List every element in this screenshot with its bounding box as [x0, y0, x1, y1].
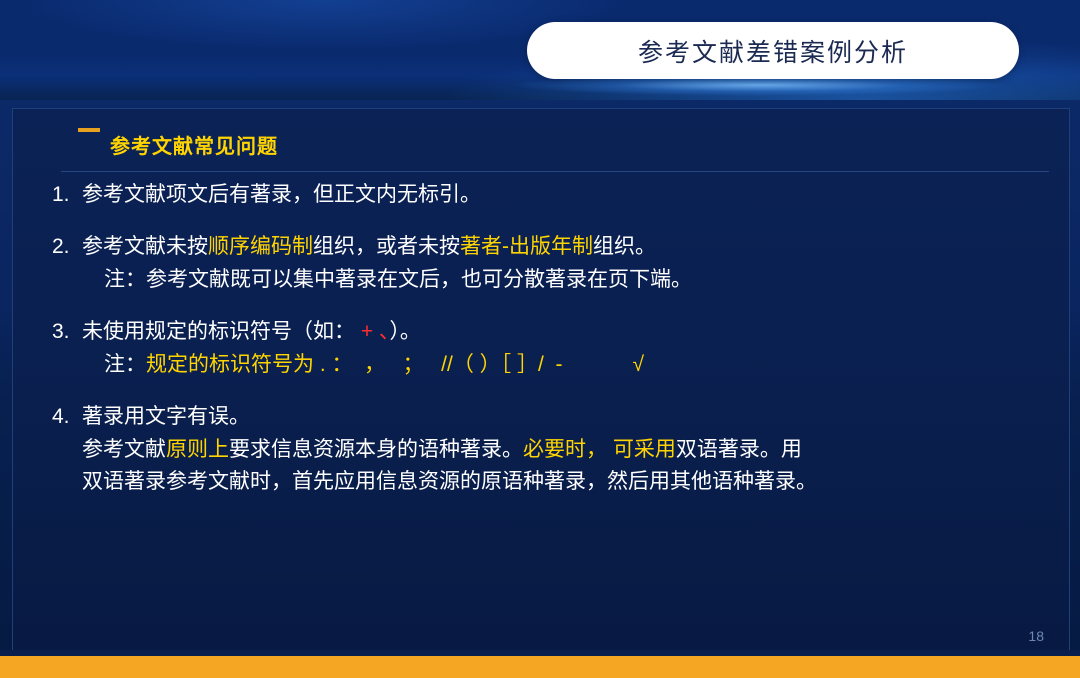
text-run: 参考文献项文后有著录，但正文内无标引。	[82, 183, 481, 206]
text-run: 要求信息资源本身的语种著录。	[229, 438, 523, 461]
text-run: 参考文献未按	[82, 235, 208, 258]
list-item: 2.参考文献未按顺序编码制组织，或者未按著者-出版年制组织。注：参考文献既可以集…	[52, 232, 1042, 297]
list-item: 1.参考文献项文后有著录，但正文内无标引。	[52, 180, 1042, 212]
text-run: 规定的标识符号为	[146, 353, 314, 376]
text-run: 双语著录参考文献时，首先应用信息资源的原语种著录，然后用其他语种著录。	[82, 470, 817, 493]
list-item-number: 2.	[52, 232, 82, 297]
slide-title-pill: 参考文献差错案例分析	[527, 22, 1019, 79]
text-run: 注：	[104, 353, 146, 376]
list-item-line: 未使用规定的标识符号（如： + 、）。	[82, 317, 1042, 347]
text-run: 参考文献	[82, 438, 166, 461]
list-item-line: 注：规定的标识符号为 . ： ， ； //（ ）［ ］/ - √	[82, 350, 1042, 380]
content-list: 1.参考文献项文后有著录，但正文内无标引。2.参考文献未按顺序编码制组织，或者未…	[52, 180, 1042, 520]
section-heading-marker	[78, 128, 100, 132]
text-run: 原则上	[166, 438, 229, 461]
list-item-line: 参考文献项文后有著录，但正文内无标引。	[82, 180, 1042, 210]
text-run: . ： ， ； //（ ）［ ］/ - √	[314, 353, 644, 376]
list-item: 4.著录用文字有误。参考文献原则上要求信息资源本身的语种著录。必要时， 可采用双…	[52, 402, 1042, 499]
text-run: 组织。	[593, 235, 656, 258]
text-run: 必要时，	[523, 438, 607, 461]
text-run: 双语著录。用	[676, 438, 802, 461]
bottom-bar	[0, 656, 1080, 678]
list-item: 3.未使用规定的标识符号（如： + 、）。注：规定的标识符号为 . ： ， ； …	[52, 317, 1042, 382]
list-item-body: 参考文献项文后有著录，但正文内无标引。	[82, 180, 1042, 212]
list-item-number: 3.	[52, 317, 82, 382]
text-run: 可采用	[613, 438, 676, 461]
section-heading: 参考文献常见问题	[110, 130, 278, 159]
text-run: + 、	[355, 320, 389, 343]
list-item-line: 双语著录参考文献时，首先应用信息资源的原语种著录，然后用其他语种著录。	[82, 467, 1042, 497]
page-number: 18	[1028, 628, 1044, 644]
list-item-line: 参考文献原则上要求信息资源本身的语种著录。必要时， 可采用双语著录。用	[82, 435, 1042, 465]
text-run: 未使用规定的标识符号（如：	[82, 320, 355, 343]
list-item-number: 1.	[52, 180, 82, 212]
list-item-body: 未使用规定的标识符号（如： + 、）。注：规定的标识符号为 . ： ， ； //…	[82, 317, 1042, 382]
slide: 参考文献差错案例分析 参考文献常见问题 1.参考文献项文后有著录，但正文内无标引…	[0, 0, 1080, 678]
text-run: 顺序编码制	[208, 235, 313, 258]
list-item-number: 4.	[52, 402, 82, 499]
text-run: 著录用文字有误。	[82, 405, 250, 428]
list-item-line: 参考文献未按顺序编码制组织，或者未按著者-出版年制组织。	[82, 232, 1042, 262]
page-title: 参考文献差错案例分析	[638, 33, 908, 69]
text-run: 著者-出版年制	[460, 235, 593, 258]
panel-divider	[61, 171, 1049, 172]
list-item-body: 参考文献未按顺序编码制组织，或者未按著者-出版年制组织。注：参考文献既可以集中著…	[82, 232, 1042, 297]
list-item-line: 注：参考文献既可以集中著录在文后，也可分散著录在页下端。	[82, 265, 1042, 295]
text-run: ）。	[389, 320, 421, 343]
text-run: 注：参考文献既可以集中著录在文后，也可分散著录在页下端。	[104, 268, 692, 291]
list-item-body: 著录用文字有误。参考文献原则上要求信息资源本身的语种著录。必要时， 可采用双语著…	[82, 402, 1042, 499]
list-item-line: 著录用文字有误。	[82, 402, 1042, 432]
text-run: 组织，或者未按	[313, 235, 460, 258]
